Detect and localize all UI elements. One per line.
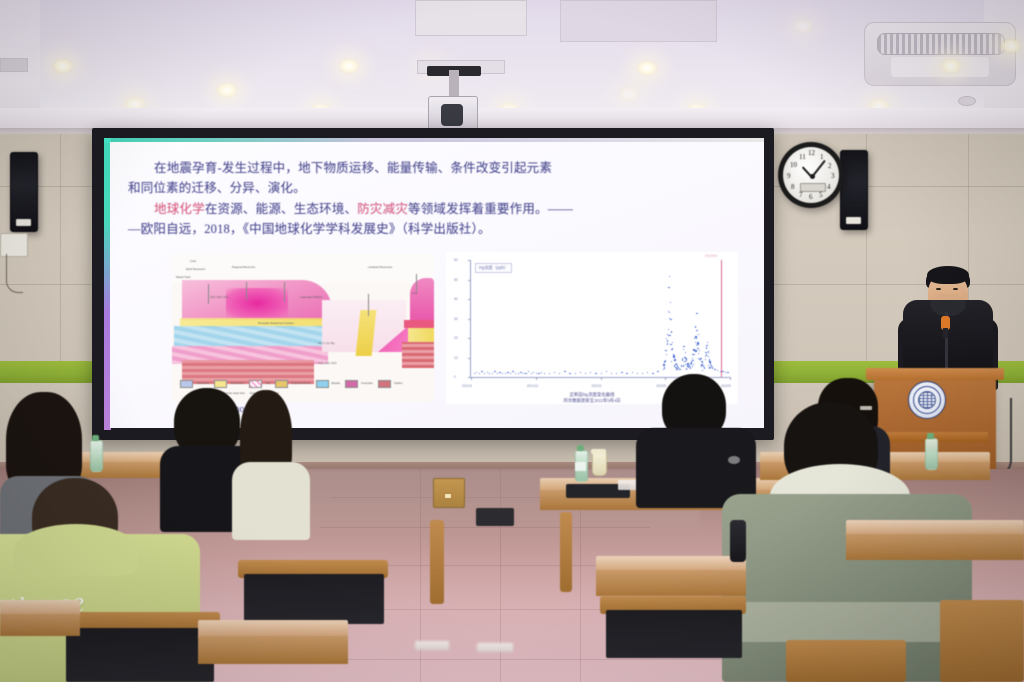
jacket-panel	[730, 602, 966, 642]
hg-data-point	[525, 373, 526, 374]
hg-x-tick	[601, 377, 602, 380]
slide-line-4: —欧阳自远，2018，《中国地球化学学科发展史》（科学出版社）。	[128, 222, 491, 236]
clock-numeral: 10	[790, 161, 797, 169]
hg-data-point	[705, 359, 706, 360]
hg-data-point	[708, 351, 709, 352]
wall-panel[interactable]	[476, 508, 514, 526]
presenter-hair-top	[927, 266, 969, 284]
hg-data-point	[667, 343, 668, 344]
clock-numeral: 4	[827, 183, 831, 191]
bottle-cap	[927, 433, 934, 439]
hg-data-point	[693, 364, 694, 365]
projector-lens-icon	[441, 104, 463, 126]
hg-data-point	[647, 372, 648, 373]
hg-data-point	[674, 359, 675, 360]
downlight	[52, 58, 74, 74]
geo-label: Landward Movement	[368, 266, 392, 269]
downlight	[792, 18, 814, 34]
hg-data-point	[676, 367, 677, 368]
hg-x-tick	[730, 377, 731, 380]
hg-data-point	[682, 359, 683, 360]
geo-layer-right-band	[404, 320, 434, 328]
geo-layer-right-brick	[402, 342, 434, 368]
hg-data-point	[666, 338, 667, 339]
hg-data-point	[515, 373, 516, 374]
paper-on-floor	[415, 641, 449, 650]
hg-data-point	[672, 342, 673, 343]
bottle-label	[575, 462, 586, 471]
hg-data-point	[684, 361, 685, 362]
hg-y-tick-label: 30	[454, 317, 458, 321]
hg-data-point	[670, 319, 671, 320]
hg-data-point	[696, 345, 697, 346]
geo-legend: Carbonates Siliciclastics Clay Evaporite…	[180, 379, 426, 388]
hg-data-point	[702, 361, 703, 362]
hg-data-point	[694, 338, 695, 339]
hg-y-tick-label: 20	[454, 336, 458, 340]
hg-data-point	[492, 373, 493, 374]
hg-data-point	[505, 373, 506, 374]
downlight	[636, 60, 658, 76]
hg-x-tick-label: 2022/3	[592, 384, 602, 388]
clock-numeral: 9	[787, 172, 791, 180]
paper-on-floor	[477, 643, 513, 652]
hg-y-tick-label: 0	[454, 375, 456, 379]
hg-y-axis-label: Hg浓度（ppb）	[475, 263, 512, 273]
hg-data-point	[670, 344, 671, 345]
hg-data-point	[670, 335, 671, 336]
bottle-cap	[92, 435, 99, 441]
hg-data-point	[725, 372, 726, 373]
hg-y-tick	[468, 319, 471, 320]
hg-data-point	[671, 331, 672, 332]
hg-data-point	[637, 373, 638, 374]
hg-x-tick-label: 2021/12	[527, 384, 539, 388]
hg-data-point	[708, 365, 709, 366]
hg-data-point	[663, 369, 664, 370]
water-bottle	[90, 440, 103, 472]
geo-layer-magenta-core	[226, 288, 288, 318]
hg-data-point	[554, 372, 555, 373]
downlight	[940, 58, 962, 74]
chair	[940, 600, 1024, 682]
slide-highlight-disaster: 防灾减灾	[357, 202, 408, 216]
hg-data-point	[595, 373, 596, 374]
hg-data-point	[538, 373, 539, 374]
hg-data-point	[642, 373, 643, 374]
ceiling-vent-center	[560, 0, 717, 42]
hg-data-point	[541, 372, 542, 373]
hg-x-tick-label: 2021/9	[462, 384, 472, 388]
hg-data-point	[533, 372, 534, 373]
hg-data-point	[727, 372, 728, 373]
hg-data-point	[666, 354, 667, 355]
chair	[786, 640, 906, 682]
hg-data-point	[481, 371, 482, 372]
legend-swatch	[249, 380, 262, 388]
paper-cup	[592, 452, 607, 476]
desk-front-panel	[596, 570, 746, 596]
hg-data-point	[665, 350, 666, 351]
ceiling-vent-left	[415, 0, 527, 36]
geo-label: Crest	[190, 260, 196, 263]
geo-formula-label: CH4, H2S, SO2	[210, 296, 228, 299]
desk-front-panel	[846, 534, 1024, 560]
hg-data-point	[575, 373, 576, 374]
hg-data-point	[621, 372, 622, 373]
hg-data-point	[722, 371, 723, 372]
legend-label: Carbonates	[196, 382, 209, 385]
hg-data-point	[717, 370, 718, 371]
hg-data-point	[669, 312, 670, 313]
wall-socket-plate[interactable]	[433, 478, 465, 508]
hg-data-point	[673, 356, 674, 357]
chair-back	[66, 628, 214, 682]
hg-y-tick	[468, 358, 471, 359]
slide-line-2: 和同位素的迁移、分异、演化。	[128, 181, 306, 195]
hg-data-point	[664, 367, 665, 368]
clock-numeral: 3	[831, 172, 835, 180]
hg-data-point	[670, 302, 671, 303]
hg-caption-subtitle: 所示数据更新至2022年9月4日	[563, 398, 620, 403]
hg-data-point	[676, 369, 677, 370]
hg-data-point	[585, 373, 586, 374]
hg-marker-label: 2022/9/4	[705, 254, 717, 258]
wall-clock: 12 1 2 3 4 5 6 7 8 9 10 11	[778, 142, 844, 208]
podium-emblem	[908, 381, 946, 419]
speaker-badge	[16, 219, 31, 226]
hg-data-point	[487, 372, 488, 373]
hg-data-point	[569, 373, 570, 374]
clock-numeral: 7	[799, 191, 803, 199]
chair-armrest	[430, 520, 444, 604]
hg-data-point	[705, 352, 706, 353]
right-wall-speaker	[840, 150, 868, 230]
hg-data-point	[476, 372, 477, 373]
geo-label: Peneplain Detachment Surface	[258, 322, 294, 325]
clock-numeral: 12	[808, 149, 815, 157]
hg-data-point	[696, 330, 697, 331]
legend-swatch	[214, 380, 227, 388]
clock-numeral: 5	[819, 191, 823, 199]
ceiling-vent-left-edge	[0, 58, 28, 72]
hg-data-point	[668, 329, 669, 330]
hg-y-tick-label: 60	[454, 258, 458, 262]
slide-line-1: 在地震孕育-发生过程中，地下物质运移、能量传输、条件改变引起元素	[154, 161, 552, 175]
chair-armrest	[560, 512, 572, 592]
clock-numeral: 2	[828, 162, 832, 170]
hg-y-tick	[468, 260, 471, 261]
hg-data-point	[611, 373, 612, 374]
hg-data-point	[528, 371, 529, 372]
geo-flow-arrow	[246, 282, 247, 300]
hg-data-point	[518, 373, 519, 374]
hg-data-point	[692, 358, 693, 359]
hg-data-point	[667, 340, 668, 341]
hg-caption-title: 正断层Hg浓度变化曲线	[570, 392, 615, 397]
hg-data-point	[671, 361, 672, 362]
downlight	[1000, 38, 1022, 54]
ceiling-air-conditioner	[864, 22, 1016, 86]
hg-data-point	[502, 373, 503, 374]
hg-data-point	[681, 365, 682, 366]
geo-label: Regional Movement	[232, 266, 255, 269]
ceiling	[0, 0, 1024, 138]
hg-data-point	[507, 372, 508, 373]
downlight	[338, 58, 360, 74]
clock-numeral: 8	[791, 183, 795, 191]
hg-data-point	[510, 373, 511, 374]
presenter-microphone-stem	[943, 328, 948, 338]
hg-y-tick-label: 10	[454, 356, 458, 360]
podium-cable	[988, 398, 1012, 478]
slide-line-3-tail: 等领域发挥着重要作用。——	[408, 202, 573, 216]
hg-y-tick	[468, 280, 471, 281]
hg-data-point	[499, 372, 500, 373]
hg-data-point	[544, 373, 545, 374]
hg-data-point	[601, 373, 602, 374]
geo-flow-arrow	[368, 294, 369, 316]
hg-data-point	[699, 359, 700, 360]
hg-data-point	[683, 346, 684, 347]
geo-label: Limb	[412, 292, 418, 295]
hg-data-point	[652, 373, 653, 374]
hg-data-point	[706, 345, 707, 346]
hg-data-point	[489, 373, 490, 374]
hg-data-point	[690, 367, 691, 368]
hg-data-point	[564, 371, 565, 372]
hg-data-point	[688, 367, 689, 368]
hg-data-point	[606, 371, 607, 372]
legend-label: Gabbro	[394, 382, 403, 385]
hg-data-point	[474, 373, 475, 374]
geo-flow-arrow	[284, 282, 285, 302]
hg-data-point	[714, 369, 715, 370]
hg-data-point	[683, 349, 684, 350]
hg-data-point	[616, 373, 617, 374]
hg-data-point	[685, 352, 686, 353]
clock-numeral: 6	[809, 193, 813, 201]
clock-numeral: 11	[799, 153, 806, 161]
hg-data-point	[705, 356, 706, 357]
hg-data-point	[683, 365, 684, 366]
wall-socket-indicator	[445, 494, 451, 498]
hg-data-point	[669, 276, 670, 277]
emblem-globe-icon	[918, 391, 936, 409]
clock-face: 12 1 2 3 4 5 6 7 8 9 10 11	[783, 147, 839, 203]
projection-screen: 在地震孕育-发生过程中，地下物质运移、能量传输、条件改变引起元素 和同位素的迁移…	[110, 142, 764, 428]
hg-x-tick-label: 2022/6	[656, 384, 666, 388]
downlight	[618, 86, 640, 102]
geo-label: Earth Movement	[186, 268, 205, 271]
clock-date-window	[800, 183, 826, 192]
hg-data-point	[697, 348, 698, 349]
hg-data-point	[697, 343, 698, 344]
left-wall-speaker	[10, 152, 38, 232]
hg-data-point	[679, 369, 680, 370]
geo-label: Carbonate Platform	[300, 296, 323, 299]
podium-top-surface	[866, 368, 1004, 380]
jacket-logo	[728, 456, 740, 464]
hg-data-point	[484, 373, 485, 374]
hg-data-point	[692, 366, 693, 367]
hg-data-point	[695, 342, 696, 343]
hg-data-point	[632, 372, 633, 373]
eyeglasses-icon	[860, 406, 872, 410]
hg-data-point	[494, 371, 495, 372]
clock-center-pin	[810, 174, 815, 179]
hg-data-point	[704, 367, 705, 368]
hg-data-point	[512, 371, 513, 372]
hg-data-point	[626, 373, 627, 374]
hg-data-point	[686, 368, 687, 369]
hg-data-point	[694, 354, 695, 355]
geo-legend-row2: Fault Discrete water flow Deep flow Main…	[212, 389, 412, 398]
lecture-hall-photo: 12 1 2 3 4 5 6 7 8 9 10 11 在地震孕育-发生过程中，地…	[0, 0, 1024, 682]
hg-data-point	[523, 373, 524, 374]
hg-y-tick	[468, 299, 471, 300]
hg-data-point	[479, 373, 480, 374]
legend-swatch	[180, 380, 193, 388]
legend-label: Evaporite/Sands	[291, 382, 310, 385]
hg-data-point	[657, 371, 658, 372]
slide-line-3-mid: 在资源、能源、生态环境、	[205, 202, 357, 216]
geo-formula-label: Na, K, Ca, Mg	[318, 342, 334, 345]
hg-data-point	[692, 360, 693, 361]
hg-data-point	[668, 287, 669, 288]
hg-x-tick	[471, 377, 472, 380]
legend-swatch	[345, 380, 358, 388]
legend-swatch	[378, 380, 391, 388]
slide-highlight-geochemistry: 地球化学	[154, 202, 205, 216]
geo-flow-arrow	[416, 274, 417, 292]
geo-label: Master Fault	[176, 276, 190, 279]
hg-x-tick	[536, 377, 537, 380]
cup-lid	[591, 449, 606, 454]
hg-data-point	[706, 347, 707, 348]
hg-data-point	[590, 372, 591, 373]
hg-data-point	[698, 353, 699, 354]
thermos-bottle	[730, 520, 746, 562]
hg-data-point	[497, 373, 498, 374]
hg-data-point	[695, 326, 696, 327]
bottle-cap	[577, 445, 584, 451]
hg-data-point	[696, 313, 697, 314]
geo-formula-label: CO2, H2S, H2O	[318, 362, 337, 365]
projector-arm	[449, 70, 459, 98]
legend-swatch	[316, 380, 329, 388]
legend-label: Siliciclastics	[230, 382, 244, 385]
geological-cross-section-figure: Crest Earth Movement Regional Movement L…	[172, 254, 434, 402]
speaker-badge	[846, 217, 861, 224]
hg-data-point	[536, 373, 537, 374]
hg-data-point	[695, 336, 696, 337]
chair-back	[606, 610, 742, 658]
hg-data-point	[695, 350, 696, 351]
hoodie-hood	[14, 524, 138, 576]
hanging-wire	[6, 254, 23, 293]
hg-data-point	[696, 338, 697, 339]
hg-data-point	[708, 356, 709, 357]
hg-data-point	[559, 373, 560, 374]
hg-data-point	[700, 358, 701, 359]
legend-label: Basalts	[332, 382, 341, 385]
water-bottle	[925, 438, 938, 470]
hg-plot-area: Hg浓度（ppb） 01020304050602021/92021/122022…	[470, 260, 730, 378]
hg-data-point	[580, 372, 581, 373]
audience-torso	[232, 462, 310, 540]
downlight	[216, 82, 238, 98]
smoke-detector-icon	[958, 96, 976, 106]
hg-y-tick-label: 50	[454, 278, 458, 282]
hg-marker-line	[721, 260, 722, 377]
hg-y-tick	[468, 338, 471, 339]
hg-y-tick-label: 40	[454, 297, 458, 301]
chair-back	[244, 574, 384, 624]
hg-data-point	[664, 365, 665, 366]
ac-grille-icon	[877, 33, 1005, 55]
hg-data-point	[549, 373, 550, 374]
hg-data-point	[699, 350, 700, 351]
slide-body-text: 在地震孕育-发生过程中，地下物质运移、能量传输、条件改变引起元素 和同位素的迁移…	[128, 158, 746, 239]
hg-x-tick-label: 2022/9	[721, 384, 731, 388]
hg-data-point	[707, 342, 708, 343]
hg-x-tick	[665, 377, 666, 380]
hg-data-point	[520, 372, 521, 373]
geo-flow-arrow	[208, 284, 209, 304]
legend-swatch	[275, 380, 288, 388]
desk-front-panel	[0, 614, 80, 636]
hg-data-point	[686, 359, 687, 360]
legend-label: Clay	[265, 382, 270, 385]
hg-data-point	[702, 370, 703, 371]
desk-front-panel	[198, 636, 348, 664]
hg-data-point	[698, 334, 699, 335]
legend-label: Granulites	[361, 382, 373, 385]
hg-data-point	[712, 367, 713, 368]
hg-data-point	[531, 373, 532, 374]
